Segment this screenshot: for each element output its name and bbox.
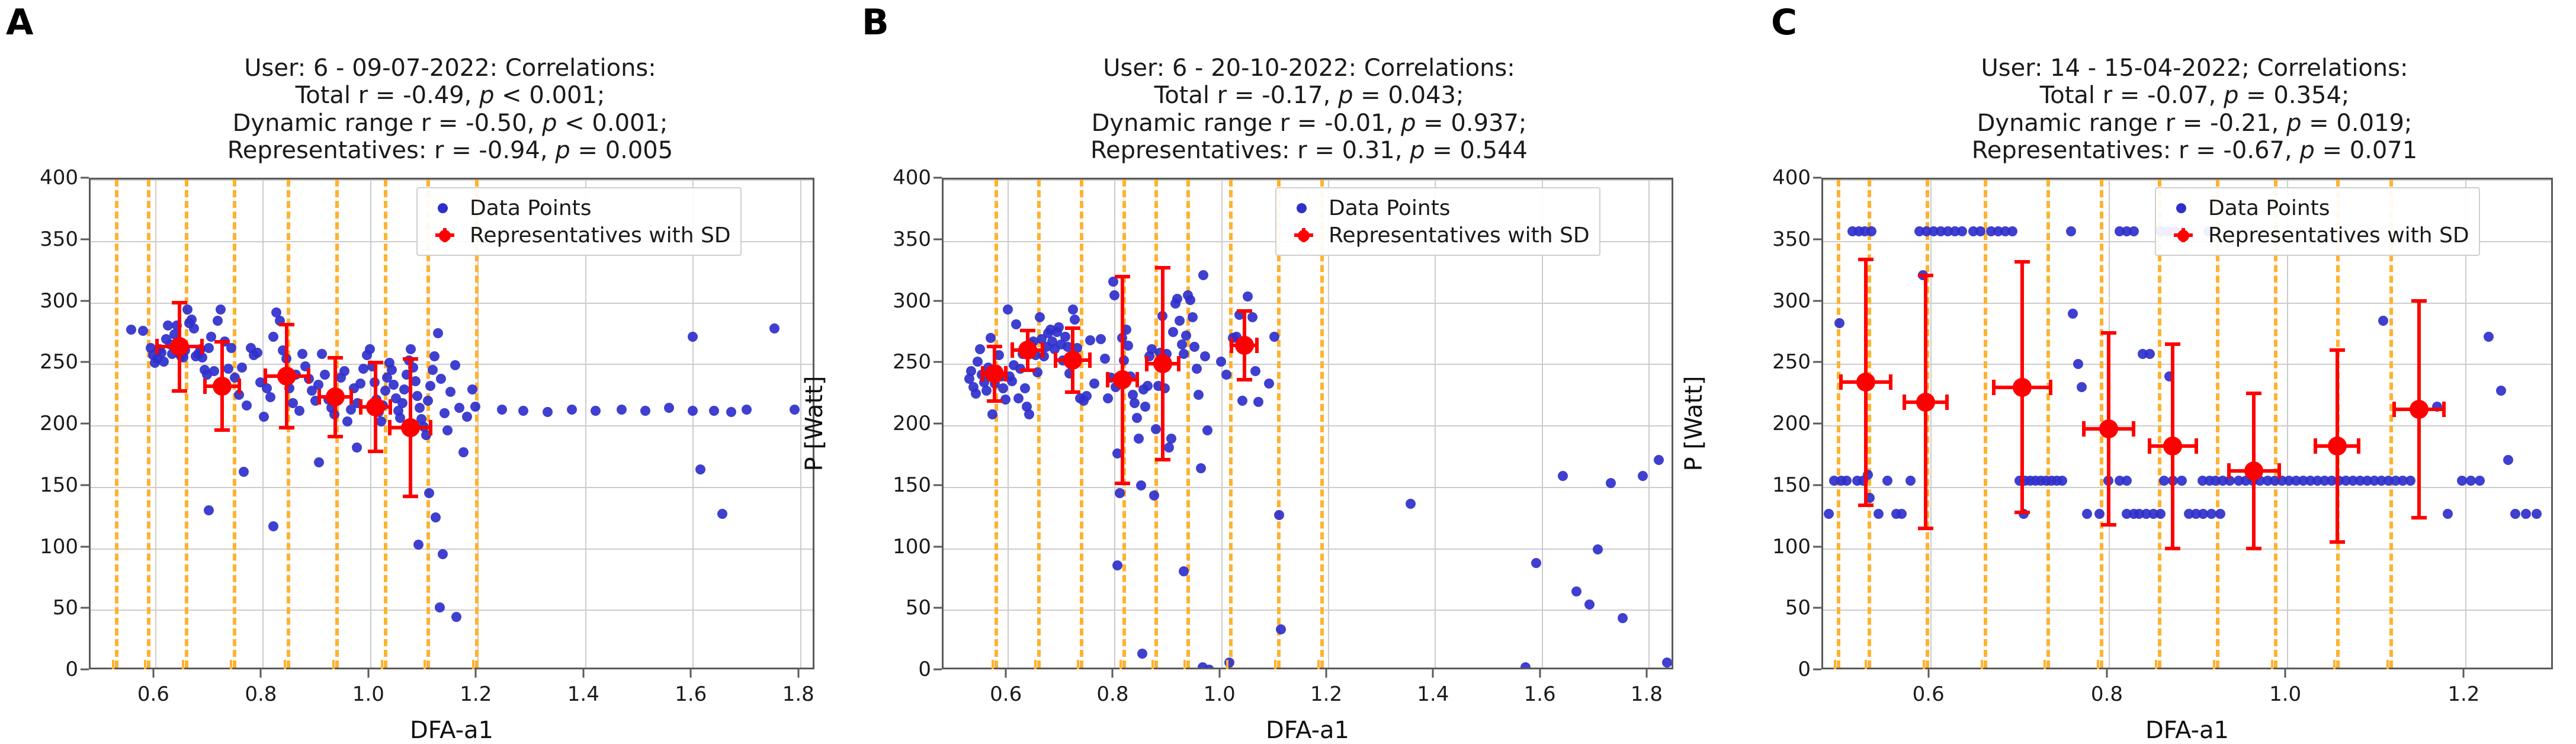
x-tick-label: 0.6 bbox=[1913, 682, 1945, 706]
data-point bbox=[2443, 509, 2453, 519]
error-bar-cap bbox=[2148, 438, 2151, 454]
gridline-horizontal bbox=[1823, 179, 2551, 181]
data-point bbox=[2077, 382, 2087, 392]
x-tick-label: 0.8 bbox=[2091, 682, 2123, 706]
panel-letter-c: C bbox=[1771, 5, 1797, 40]
representative-center bbox=[2099, 419, 2118, 438]
data-point bbox=[2068, 309, 2078, 319]
gridline-horizontal bbox=[1823, 303, 2551, 304]
data-point bbox=[1866, 226, 1876, 236]
gridline-horizontal bbox=[1823, 425, 2551, 426]
legend-item-representatives[interactable]: Representatives with SD bbox=[2163, 222, 2469, 249]
y-tick-label: 250 bbox=[1772, 350, 1811, 374]
error-bar-cap bbox=[2357, 438, 2360, 454]
representative-center bbox=[1916, 393, 1935, 412]
cut-line-tick bbox=[2097, 660, 2099, 669]
error-bar-cap bbox=[2049, 380, 2052, 395]
data-point bbox=[1957, 226, 1967, 236]
data-point bbox=[2503, 455, 2513, 465]
y-tick-label: 100 bbox=[1772, 535, 1811, 559]
cut-line-tick bbox=[2155, 660, 2157, 669]
gridline-horizontal bbox=[1823, 364, 2551, 365]
legend-item-data-points[interactable]: Data Points bbox=[2163, 194, 2469, 222]
data-point bbox=[2129, 226, 2139, 236]
error-bar-cap bbox=[1918, 527, 1933, 530]
cut-line-tick bbox=[2213, 660, 2215, 669]
error-bar-cap bbox=[1918, 274, 1933, 277]
data-point bbox=[2521, 509, 2531, 519]
gridline-horizontal bbox=[1823, 610, 2551, 611]
data-point bbox=[2177, 476, 2187, 486]
x-tick-mark bbox=[1927, 669, 1929, 678]
x-tick-label: 1.0 bbox=[2269, 682, 2301, 706]
data-point bbox=[1905, 476, 1916, 486]
data-point bbox=[1824, 509, 1834, 519]
data-point bbox=[2484, 332, 2494, 342]
data-point bbox=[1874, 509, 1884, 519]
y-tick-mark bbox=[1813, 607, 1821, 609]
data-point bbox=[1975, 226, 1985, 236]
gridline-vertical bbox=[1930, 179, 1932, 668]
x-tick-label: 1.2 bbox=[2447, 682, 2479, 706]
cut-line-tick bbox=[2333, 660, 2336, 669]
error-bar-cap bbox=[1858, 504, 1874, 507]
cut-line-tick bbox=[2386, 660, 2389, 669]
legend-label: Representatives with SD bbox=[2205, 223, 2469, 248]
data-point bbox=[2066, 226, 2076, 236]
error-bar-cap bbox=[2082, 421, 2086, 437]
y-tick-mark bbox=[1813, 669, 1821, 671]
data-point bbox=[2073, 359, 2083, 369]
error-bar-cap bbox=[2165, 547, 2180, 550]
cut-line bbox=[1837, 179, 1840, 668]
error-bar-cap bbox=[1992, 380, 1996, 395]
error-bar-cap bbox=[2330, 348, 2345, 352]
title-line: Total r = -0.07, p = 0.354; bbox=[1801, 82, 2576, 109]
gridline-horizontal bbox=[1823, 487, 2551, 488]
data-point bbox=[2145, 349, 2155, 359]
data-point bbox=[1834, 318, 1844, 328]
panel-c: CUser: 14 - 15-04-2022; Correlations:Tot… bbox=[0, 0, 2576, 737]
y-tick-mark bbox=[1813, 300, 1821, 302]
data-point bbox=[2405, 476, 2415, 486]
x-axis-label: DFA-a1 bbox=[2145, 717, 2229, 744]
error-bar-cap bbox=[2246, 547, 2261, 550]
representative-center bbox=[2163, 437, 2182, 456]
cut-line-tick bbox=[2044, 660, 2046, 669]
representative-center bbox=[2244, 461, 2263, 480]
data-point bbox=[1897, 509, 1907, 519]
error-bar-cap bbox=[2330, 540, 2345, 544]
title-line: Representatives: r = -0.67, p = 0.071 bbox=[1801, 137, 2576, 164]
y-tick-label: 50 bbox=[1785, 596, 1811, 620]
error-bar-cap bbox=[2227, 463, 2231, 479]
y-tick-label: 350 bbox=[1772, 227, 1811, 251]
error-bar-cap bbox=[2442, 402, 2446, 417]
data-point bbox=[2532, 509, 2542, 519]
gridline-horizontal bbox=[1823, 549, 2551, 550]
representative-center bbox=[2410, 400, 2429, 419]
title-line: Dynamic range r = -0.21, p = 0.019; bbox=[1801, 110, 2576, 137]
data-point bbox=[1842, 476, 1852, 486]
cut-line bbox=[2046, 179, 2050, 668]
y-tick-mark bbox=[1813, 546, 1821, 547]
representative-center bbox=[2328, 437, 2347, 456]
cut-line-tick bbox=[1834, 660, 1836, 669]
data-point bbox=[2496, 386, 2506, 396]
error-bar-cap bbox=[1889, 374, 1892, 390]
representative-icon bbox=[2163, 223, 2205, 247]
cut-line bbox=[1868, 179, 1871, 668]
error-bar-cap bbox=[1945, 395, 1949, 410]
error-bar-cap bbox=[2246, 392, 2261, 395]
error-bar-cap bbox=[2411, 299, 2427, 303]
y-tick-mark bbox=[1813, 484, 1821, 486]
error-bar-cap bbox=[2014, 260, 2030, 264]
y-axis-label: P [Watt] bbox=[1680, 376, 1708, 472]
y-tick-label: 0 bbox=[1798, 658, 1811, 681]
legend-label: Data Points bbox=[2205, 196, 2330, 220]
cut-line-tick bbox=[1865, 660, 1867, 669]
error-bar-cap bbox=[2014, 511, 2030, 514]
error-bar-cap bbox=[2314, 438, 2317, 454]
y-tick-label: 300 bbox=[1772, 289, 1811, 313]
x-tick-mark bbox=[2285, 669, 2286, 678]
x-tick-mark bbox=[2106, 669, 2107, 678]
error-bar-cap bbox=[2277, 463, 2281, 479]
panel-title-c: User: 14 - 15-04-2022; Correlations:Tota… bbox=[1801, 54, 2576, 165]
y-tick-mark bbox=[1813, 238, 1821, 240]
y-tick-mark bbox=[1813, 361, 1821, 363]
data-point bbox=[2155, 509, 2166, 519]
cut-line-tick bbox=[1981, 660, 1983, 669]
data-point bbox=[2122, 476, 2132, 486]
error-bar-cap bbox=[1839, 374, 1843, 390]
error-bar-cap bbox=[2101, 523, 2116, 527]
legend-c: Data PointsRepresentatives with SD bbox=[2155, 187, 2480, 256]
error-bar-cap bbox=[1858, 258, 1874, 261]
title-line: User: 14 - 15-04-2022; Correlations: bbox=[1801, 54, 2576, 82]
representative-center bbox=[1856, 373, 1875, 392]
data-point bbox=[2057, 476, 2067, 486]
cut-line bbox=[1984, 179, 1987, 668]
data-point bbox=[2007, 226, 2017, 236]
data-point bbox=[2510, 509, 2520, 519]
cut-line-tick bbox=[2271, 660, 2273, 669]
y-tick-label: 150 bbox=[1772, 473, 1811, 497]
figure-canvas: AUser: 6 - 09-07-2022: Correlations:Tota… bbox=[0, 0, 2576, 737]
data-point-icon bbox=[2163, 196, 2205, 220]
data-point bbox=[2082, 509, 2092, 519]
y-tick-label: 200 bbox=[1772, 412, 1811, 435]
y-tick-mark bbox=[1813, 177, 1821, 179]
error-bar-cap bbox=[1903, 395, 1906, 410]
error-bar-cap bbox=[2411, 516, 2427, 519]
error-bar-cap bbox=[2195, 438, 2198, 454]
error-bar-cap bbox=[2132, 421, 2135, 437]
error-bar-cap bbox=[2101, 331, 2116, 335]
representative-center bbox=[2013, 378, 2032, 397]
error-bar-cap bbox=[2165, 342, 2180, 346]
cut-line-tick bbox=[1923, 660, 1925, 669]
data-point bbox=[1882, 476, 1892, 486]
y-tick-mark bbox=[1813, 423, 1821, 425]
x-tick-mark bbox=[2463, 669, 2465, 678]
data-point bbox=[2378, 316, 2388, 326]
error-bar-cap bbox=[2392, 402, 2396, 417]
y-tick-label: 400 bbox=[1772, 166, 1811, 190]
data-point bbox=[2475, 476, 2485, 486]
data-point bbox=[2215, 509, 2225, 519]
